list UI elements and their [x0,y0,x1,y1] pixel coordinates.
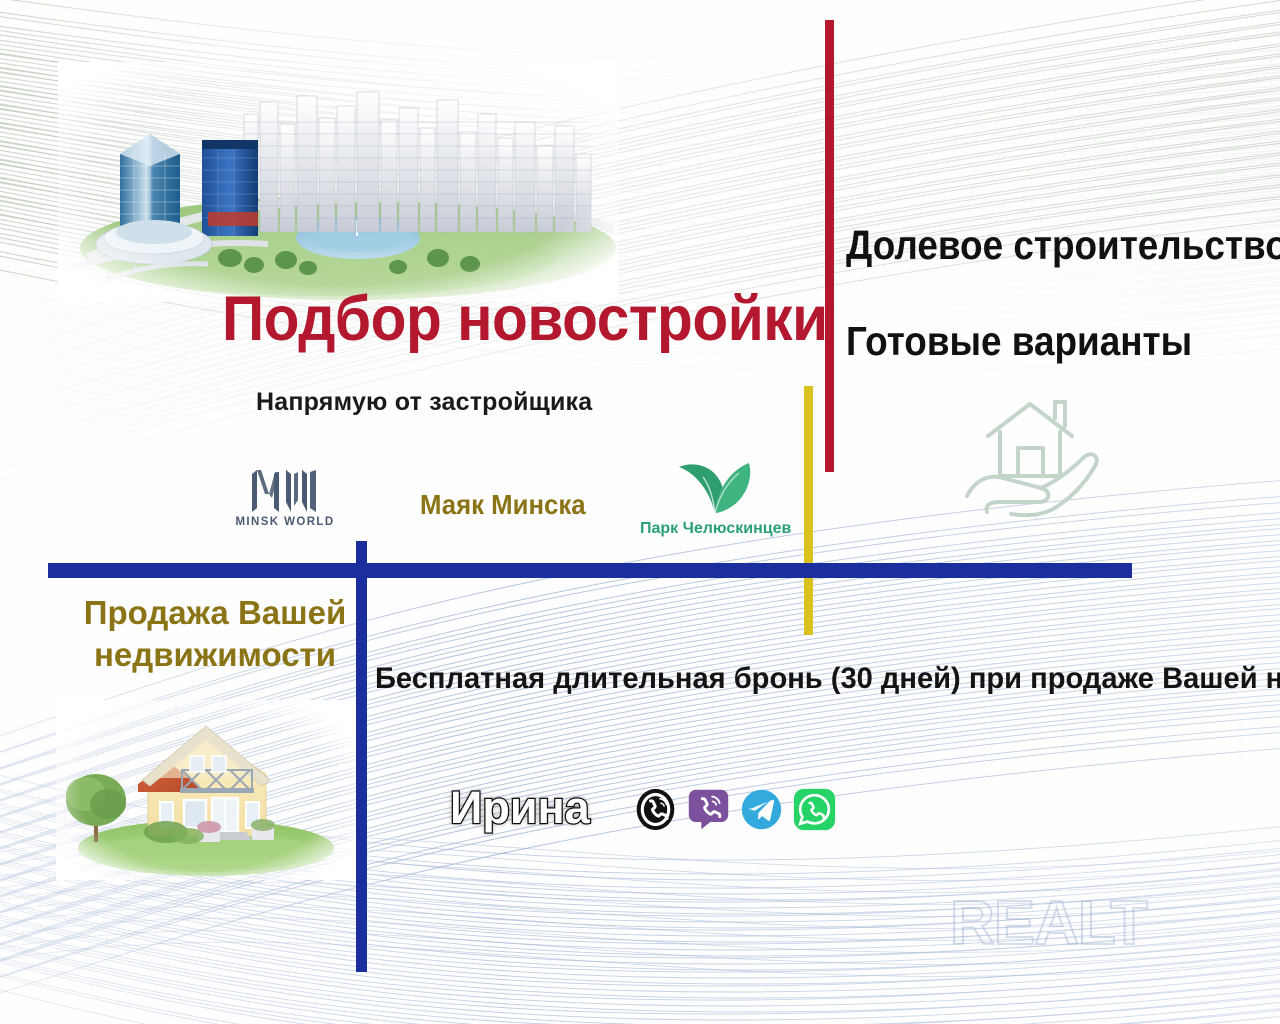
telegram-icon[interactable] [740,788,783,831]
leaf-icon [669,455,761,517]
offer-line-ready-options: Готовые варианты [846,318,1192,365]
promo-booking-text: Бесплатная длительная бронь (30 дней) пр… [375,662,1280,696]
sell-property-line2: недвижимости [94,636,336,673]
divider-red-vertical [825,20,834,472]
contact-channels[interactable] [634,788,836,831]
poster-canvas: REALT [0,0,1280,1024]
page-subtitle: Напрямую от застройщика [256,388,592,417]
whatsapp-icon[interactable] [793,788,836,831]
viber-icon[interactable] [687,788,730,831]
phone-icon[interactable] [634,788,677,831]
partner-logo-mayak-minska[interactable]: Маяк Минска [420,489,586,521]
minsk-skyline-photo [58,62,618,302]
partner-logo-minsk-world[interactable]: MINSK WORLD [225,468,345,528]
offer-line-shared-construction: Долевое строительство [846,222,1280,269]
divider-yellow-vertical [804,386,813,635]
cottage-house-photo [56,700,356,880]
minsk-world-mark [248,468,322,514]
partner-logo-park-chelyuskintsev[interactable]: Парк Челюскинцев [640,455,790,538]
agent-name: Ирина [450,782,590,834]
sell-property-line1: Продажа Вашей [84,594,347,631]
house-in-hand-icon [955,392,1105,522]
sell-property-title: Продажа Вашей недвижимости [80,592,350,675]
partner-name-park-chelyuskintsev: Парк Челюскинцев [640,520,790,538]
page-title: Подбор новостройки [222,288,828,351]
divider-blue-horizontal [48,563,1132,578]
partner-name-minsk-world: MINSK WORLD [225,516,345,528]
divider-blue-vertical [356,541,367,972]
realt-watermark: REALT [950,888,1147,959]
